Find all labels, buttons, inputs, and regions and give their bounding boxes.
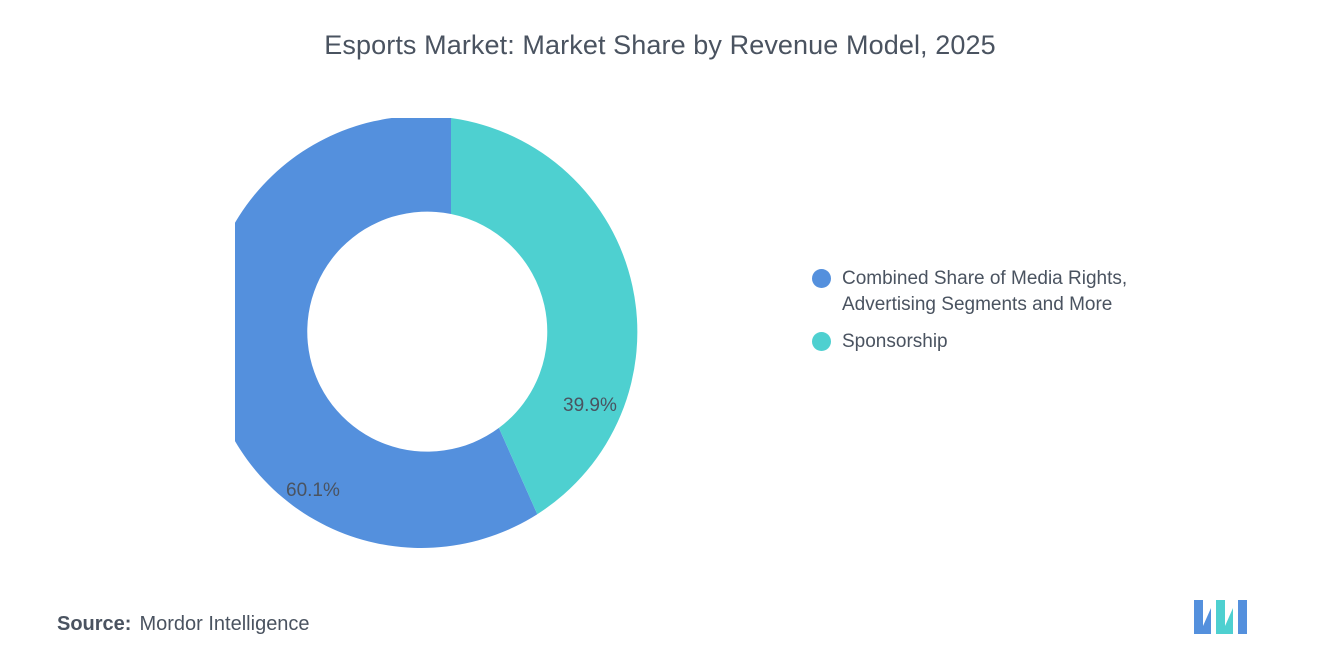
legend-color-dot-icon (812, 269, 831, 288)
source-line: Source:Mordor Intelligence (57, 613, 310, 636)
mordor-intelligence-logo-icon (1192, 596, 1258, 636)
legend-color-dot-icon (812, 332, 831, 351)
legend-item-label: Combined Share of Media Rights, Advertis… (842, 266, 1192, 317)
source-value: Mordor Intelligence (139, 613, 309, 635)
donut-chart: 60.1% 39.9% (235, 118, 667, 550)
legend-item-combined-share[interactable]: Combined Share of Media Rights, Advertis… (812, 266, 1232, 317)
page-title: Esports Market: Market Share by Revenue … (0, 30, 1320, 61)
source-label: Source: (57, 613, 131, 635)
legend-item-label: Sponsorship (842, 329, 948, 355)
slice-label-sponsorship: 39.9% (563, 395, 617, 417)
slice-label-combined-share: 60.1% (286, 480, 340, 502)
chart-legend: Combined Share of Media Rights, Advertis… (812, 266, 1232, 367)
legend-item-sponsorship[interactable]: Sponsorship (812, 329, 1232, 355)
